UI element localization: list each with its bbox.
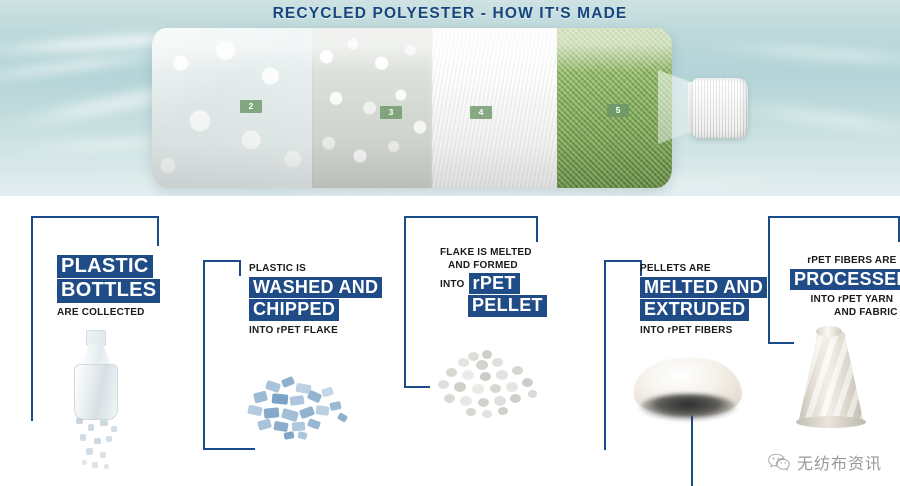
- step-3-product-rpet-pellets: [428, 346, 553, 426]
- bottle-badge-3: 3: [380, 106, 402, 119]
- fiber-cloud-shadow: [640, 394, 736, 420]
- step-4-product-rpet-fiber-cloud: [634, 358, 750, 426]
- yarn-cone-top: [816, 326, 842, 337]
- wechat-icon: [768, 453, 790, 472]
- step-4-pre: PELLETS ARE: [640, 262, 767, 275]
- watermark: 无纺布资讯: [768, 450, 882, 474]
- step-3-pre-3: INTO: [440, 278, 465, 294]
- step-5-product-yarn-cone: [790, 326, 880, 436]
- bottle-section-fiber: [432, 28, 557, 188]
- page-title: RECYCLED POLYESTER - HOW IT'S MADE: [0, 5, 900, 23]
- watermark-text: 无纺布资讯: [797, 450, 882, 474]
- step-3-pre-2: AND FORMED: [440, 259, 547, 272]
- hero-banner: RECYCLED POLYESTER - HOW IT'S MADE 2 3 4…: [0, 0, 900, 196]
- step-4-highlight-2: EXTRUDED: [640, 299, 749, 320]
- step-1-highlight-1: PLASTIC: [57, 255, 153, 278]
- step-1-text: PLASTIC BOTTLES ARE COLLECTED: [57, 254, 160, 319]
- step-3-highlight-1: rPET: [469, 273, 520, 294]
- step-3-highlight-2: PELLET: [468, 295, 547, 316]
- bottle-rib: [430, 28, 433, 188]
- bottle-rib: [310, 28, 313, 188]
- step-2-highlight-1: WASHED AND: [249, 277, 382, 298]
- bottle-rib: [555, 28, 558, 188]
- bottle-badge-4: 4: [470, 106, 492, 119]
- bottle-neck-icon: [86, 330, 106, 346]
- step-4-highlight-1: MELTED AND: [640, 277, 767, 298]
- step-2-text: PLASTIC IS WASHED AND CHIPPED INTO rPET …: [249, 262, 382, 337]
- step-2-product-rpet-flakes: [238, 370, 358, 450]
- bottle-body-icon: [74, 364, 118, 420]
- step-2-pre: PLASTIC IS: [249, 262, 382, 275]
- step-5-post-1: INTO rPET YARN: [790, 293, 900, 306]
- step-4-post: INTO rPET FIBERS: [640, 324, 767, 337]
- step-1-product-plastic-bottle: [56, 364, 146, 474]
- step-4-text: PELLETS ARE MELTED AND EXTRUDED INTO rPE…: [640, 262, 767, 337]
- step-2-post: INTO rPET FLAKE: [249, 324, 382, 337]
- process-steps-panel: PLASTIC BOTTLES ARE COLLECTED: [0, 196, 900, 486]
- cloud-streak: [700, 39, 900, 69]
- step-3-text: FLAKE IS MELTED AND FORMED INTO rPET PEL…: [440, 246, 547, 318]
- bottle-badge-5: 5: [607, 104, 629, 117]
- bottle-section-pellet: [312, 28, 432, 188]
- step-5-highlight-1: PROCESSED: [790, 269, 900, 290]
- step-5-post-2: AND FABRIC: [790, 306, 900, 319]
- yarn-cone-base: [796, 416, 866, 428]
- step-5-pre: rPET FIBERS ARE: [790, 254, 900, 267]
- step-3-pre-1: FLAKE IS MELTED: [440, 246, 547, 259]
- bottle-badge-2: 2: [240, 100, 262, 113]
- step-2-highlight-2: CHIPPED: [249, 299, 339, 320]
- bottle-section-flake: [152, 28, 312, 188]
- step-5-text: rPET FIBERS ARE PROCESSED INTO rPET YARN…: [790, 254, 900, 319]
- bottle-body: [152, 28, 672, 188]
- infographic-page: RECYCLED POLYESTER - HOW IT'S MADE 2 3 4…: [0, 0, 900, 486]
- yarn-cone-icon: [798, 332, 864, 424]
- step-1-post: ARE COLLECTED: [57, 306, 160, 319]
- bottle-cap: [692, 78, 748, 138]
- bottle-illustration: 2 3 4 5: [152, 28, 722, 188]
- step-1-highlight-2: BOTTLES: [57, 279, 160, 302]
